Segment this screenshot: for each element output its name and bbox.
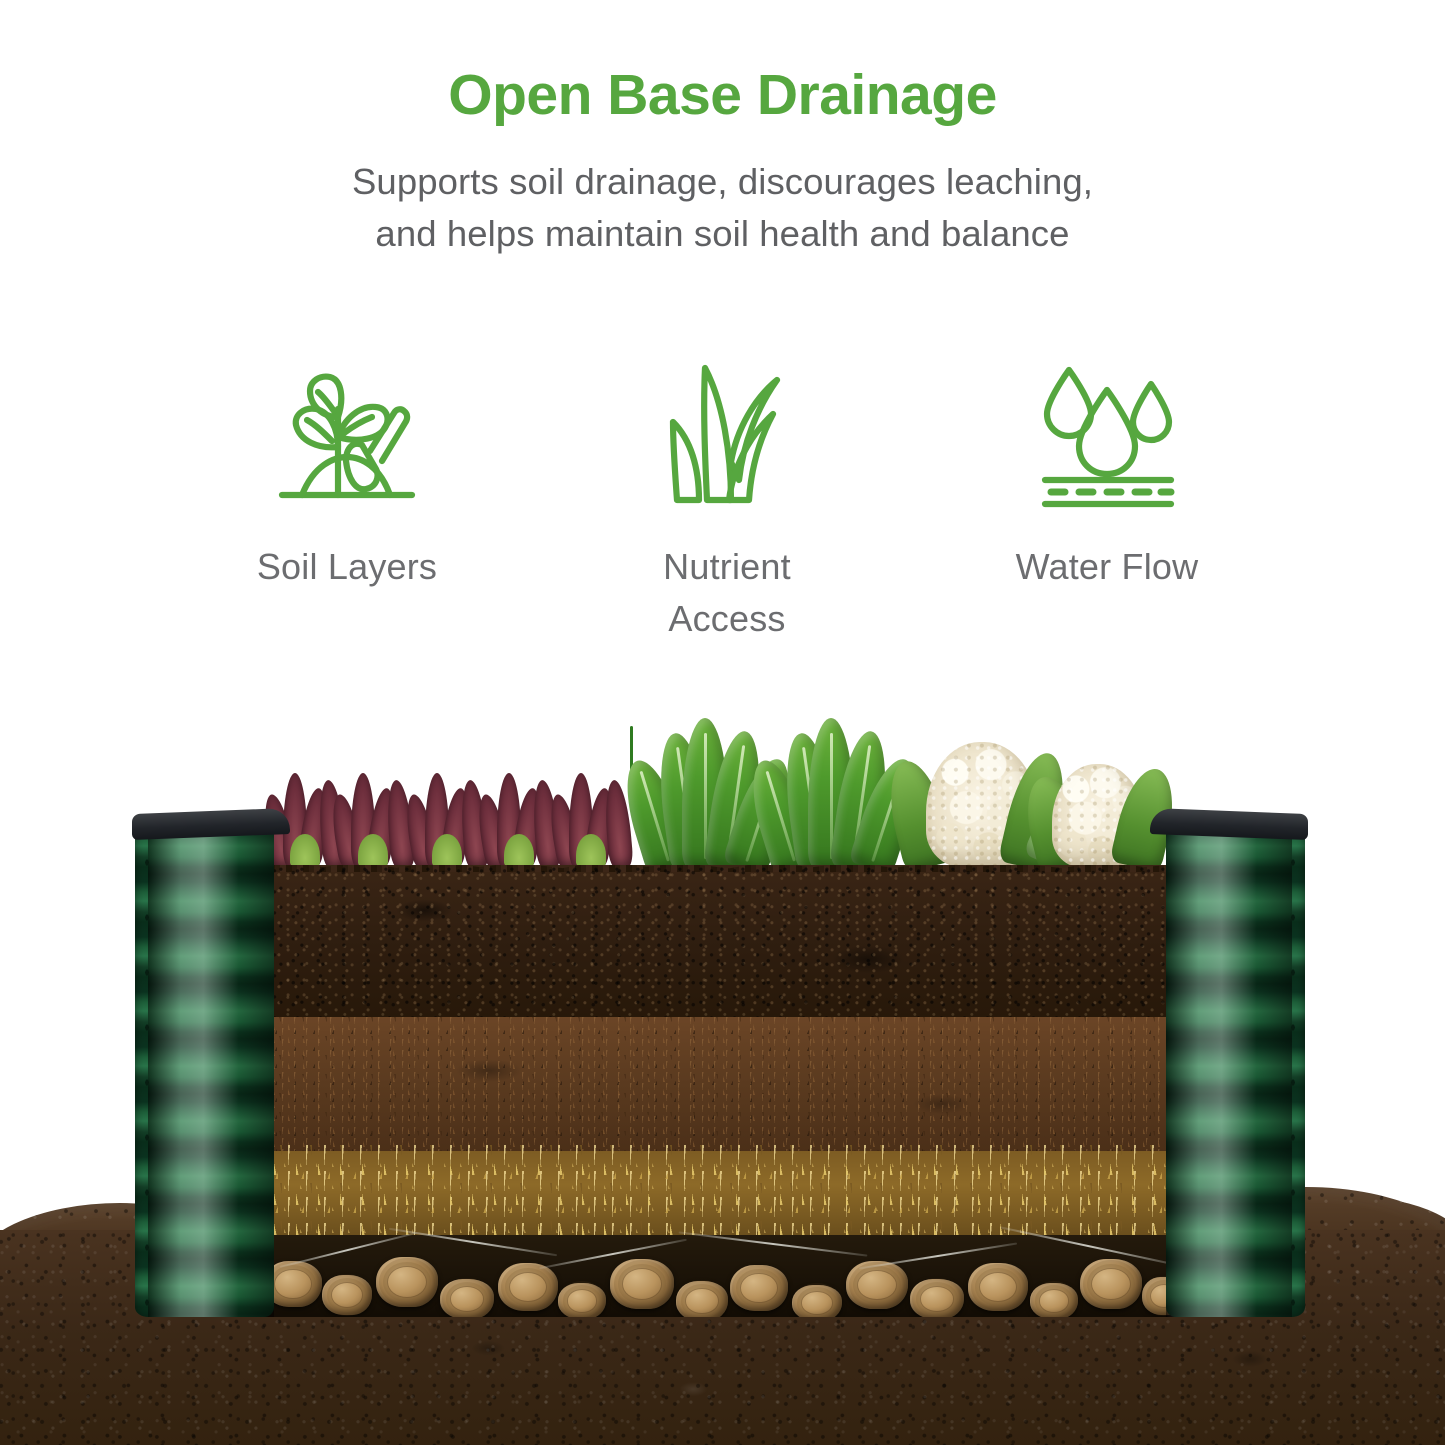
twig [679,1231,868,1256]
log-piece [440,1279,494,1317]
water-droplets-soil-icon [1031,352,1183,517]
page-subtitle-line-2: and helps maintain soil health and balan… [0,208,1445,260]
log-piece [610,1259,674,1309]
soil-layer-straw [258,1151,1182,1235]
panel-body [148,827,274,1317]
feature-water-flow-label: Water Flow [1016,541,1199,593]
page-title: Open Base Drainage [0,66,1445,126]
feature-nutrient-access-label-line-2: Access [668,598,785,639]
log-piece [498,1263,558,1311]
bed-panel-right [1166,827,1292,1317]
soil-surface-edge [258,865,1182,872]
header: Open Base Drainage Supports soil drainag… [0,0,1445,260]
log-piece [730,1265,788,1311]
feature-nutrient-access-label: Nutrient Access [663,541,791,645]
soil-layer-logs [258,1235,1182,1317]
feature-row: Soil Layers Nutrient Access [182,352,1272,645]
plant-shovel-icon [272,352,422,517]
panel-body [1166,827,1292,1317]
page-subtitle-line-1: Supports soil drainage, discourages leac… [0,156,1445,208]
feature-soil-layers: Soil Layers [182,352,512,645]
log-piece [322,1275,372,1315]
raised-garden-bed [148,805,1292,1317]
cauliflower-plant [1028,748,1178,868]
log-piece [910,1279,964,1317]
page-subtitle: Supports soil drainage, discourages leac… [0,156,1445,260]
log-piece [376,1257,438,1307]
log-piece [676,1281,728,1317]
panel-screw-holes [1288,835,1298,1309]
soil-layer-compost [258,865,1182,1017]
log-piece [1080,1259,1142,1309]
bed-panel-left [148,827,274,1317]
grass-blades-icon [661,352,793,517]
soil-cross-section [258,865,1182,1317]
product-photo [0,655,1445,1445]
log-piece [792,1285,842,1317]
feature-water-flow: Water Flow [942,352,1272,645]
log-piece [846,1261,908,1309]
vegetable-row [258,713,1182,868]
red-lettuce-plant [550,764,636,868]
panel-screw-holes [142,835,152,1309]
log-piece [558,1283,606,1317]
feature-nutrient-access: Nutrient Access [562,352,892,645]
feature-soil-layers-label: Soil Layers [257,541,437,593]
log-piece [968,1263,1028,1311]
log-piece [1030,1283,1078,1317]
soil-layer-mulch [258,1017,1182,1151]
green-cabbage-plant [756,718,906,868]
feature-nutrient-access-label-line-1: Nutrient [663,546,791,587]
